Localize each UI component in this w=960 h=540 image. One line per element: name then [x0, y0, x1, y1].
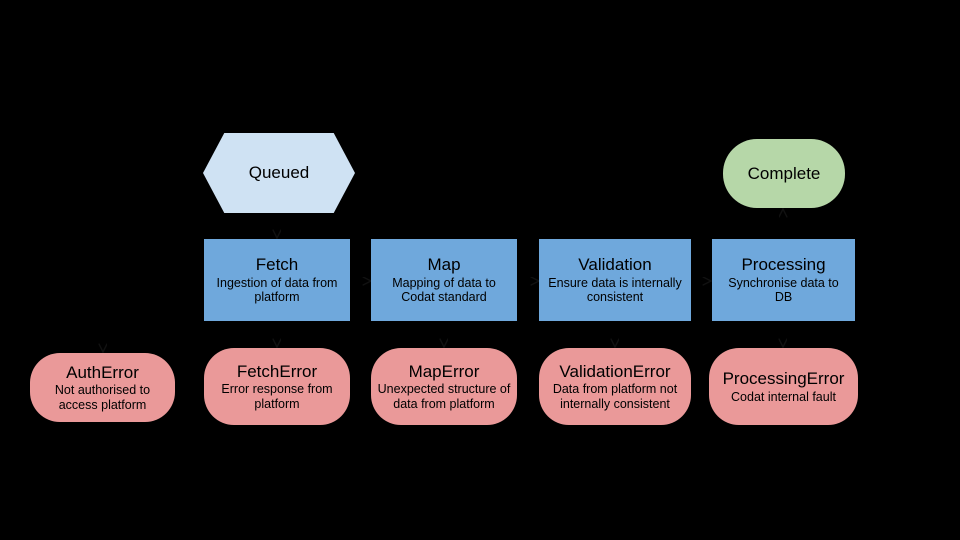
- node-complete-title: Complete: [748, 164, 821, 184]
- node-fetch-error[interactable]: FetchError Error response from platform: [204, 348, 350, 425]
- node-auth-error-description: Not authorised to access platform: [36, 383, 169, 412]
- node-validation-description: Ensure data is internally consistent: [545, 276, 685, 305]
- node-map[interactable]: Map Mapping of data to Codat standard: [371, 239, 517, 321]
- node-map-title: Map: [427, 255, 460, 275]
- node-processing-error-description: Codat internal fault: [731, 390, 836, 404]
- node-processing[interactable]: Processing Synchronise data to DB: [712, 239, 855, 321]
- node-queued-title: Queued: [249, 163, 310, 183]
- node-processing-title: Processing: [741, 255, 825, 275]
- node-fetch-description: Ingestion of data from platform: [210, 276, 344, 305]
- node-map-error-description: Unexpected structure of data from platfo…: [377, 382, 511, 411]
- node-validation-error-title: ValidationError: [559, 362, 670, 382]
- node-queued[interactable]: Queued: [203, 133, 355, 213]
- node-map-description: Mapping of data to Codat standard: [377, 276, 511, 305]
- node-fetch[interactable]: Fetch Ingestion of data from platform: [204, 239, 350, 321]
- node-validation-error[interactable]: ValidationError Data from platform not i…: [539, 348, 691, 425]
- node-map-error-title: MapError: [409, 362, 480, 382]
- node-processing-error[interactable]: ProcessingError Codat internal fault: [709, 348, 858, 425]
- node-auth-error[interactable]: AuthError Not authorised to access platf…: [30, 353, 175, 422]
- node-complete[interactable]: Complete: [723, 139, 845, 208]
- node-validation[interactable]: Validation Ensure data is internally con…: [539, 239, 691, 321]
- edge-fetch-autherror: [103, 320, 240, 352]
- node-processing-error-title: ProcessingError: [723, 369, 845, 389]
- diagram-canvas: Queued Complete Fetch Ingestion of data …: [0, 0, 960, 540]
- node-fetch-error-title: FetchError: [237, 362, 317, 382]
- node-fetch-error-description: Error response from platform: [210, 382, 344, 411]
- node-validation-title: Validation: [578, 255, 651, 275]
- node-validation-error-description: Data from platform not internally consis…: [545, 382, 685, 411]
- node-map-error[interactable]: MapError Unexpected structure of data fr…: [371, 348, 517, 425]
- node-fetch-title: Fetch: [256, 255, 299, 275]
- node-processing-description: Synchronise data to DB: [718, 276, 849, 305]
- node-auth-error-title: AuthError: [66, 363, 139, 383]
